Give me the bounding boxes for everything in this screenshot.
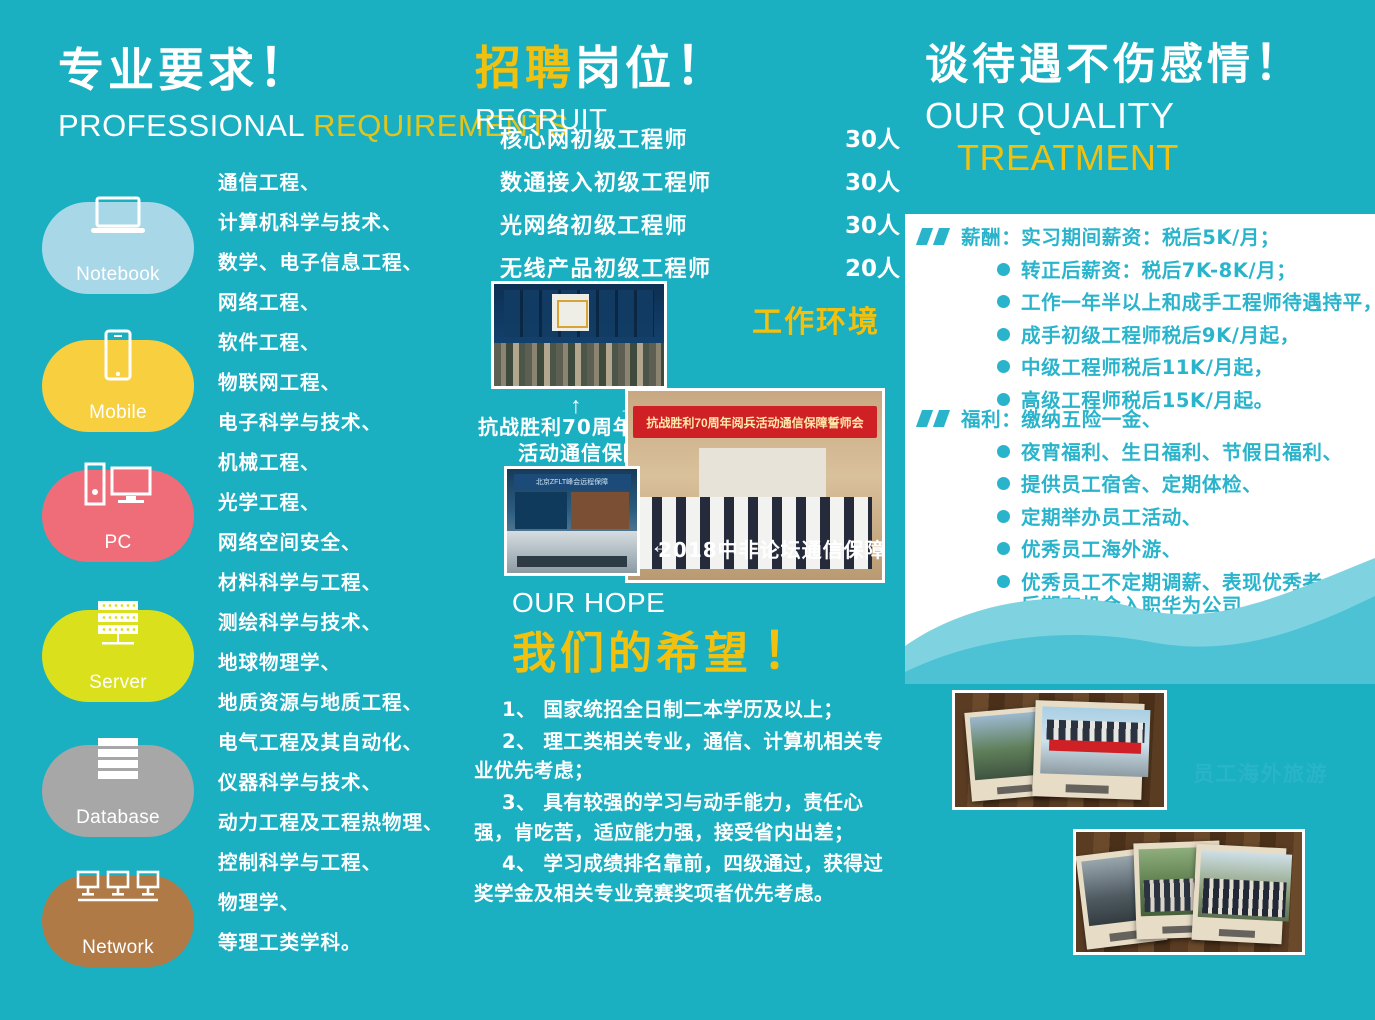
majors-list: 通信工程、 计算机科学与技术、 数学、电子信息工程、 网络工程、 软件工程、 物…: [218, 173, 458, 973]
hope-item: 1、 国家统招全日制二本学历及以上；: [474, 695, 894, 725]
column-treatment: 谈待遇不伤感情！ OUR QUALITY TREATMENT 薪酬：实习期间薪资…: [905, 0, 1375, 1020]
group-photo-people: [1202, 878, 1287, 917]
photo-control-room: 北京ZFLT峰会远程保障: [504, 466, 640, 576]
photo-noc-group: [491, 281, 667, 389]
salary-item: 工作一年半以上和成手工程师待遇持平，: [997, 293, 1375, 313]
quote-mark-icon: [919, 410, 953, 427]
left-title-exclamation: ！: [258, 39, 314, 99]
bullet-icon: [997, 510, 1010, 523]
caption-forum: 2018中非论坛通信保障: [658, 538, 886, 563]
major-item: 物理学、: [218, 893, 458, 913]
cloud-pc[interactable]: PC: [42, 470, 194, 562]
treatment-title-cn: 谈待遇不伤感情！: [925, 38, 1306, 88]
ceremony-red-banner: 抗战胜利70周年阅兵活动通信保障誓师会: [633, 406, 877, 438]
poster-canvas: 专业要求！ PROFESSIONAL REQUIREMENTS Notebook…: [0, 0, 1375, 1020]
job-row: 数通接入初级工程师 30人: [500, 163, 900, 197]
wave-decoration: [905, 534, 1375, 684]
major-item: 材料科学与工程、: [218, 573, 458, 593]
major-item: 机械工程、: [218, 453, 458, 473]
major-item: 网络工程、: [218, 293, 458, 313]
benefit-item: 提供员工宿舍、定期体检、: [997, 475, 1343, 495]
job-name: 无线产品初级工程师: [500, 251, 712, 283]
major-item: 数学、电子信息工程、: [218, 253, 458, 273]
treatment-title-en-accent: TREATMENT: [957, 138, 1306, 178]
map-outline: [557, 300, 588, 327]
major-item: 通信工程、: [218, 173, 458, 193]
screen-right: [571, 492, 630, 529]
screen-header-bar: 北京ZFLT峰会远程保障: [514, 474, 631, 490]
major-item: 等理工类学科。: [218, 933, 458, 953]
recruit-title-cn: 招聘岗位！: [475, 40, 731, 95]
polaroid-card: [1191, 844, 1286, 945]
major-item: 软件工程、: [218, 333, 458, 353]
salary-item: 成手初级工程师税后9K/月起，: [997, 326, 1375, 346]
treatment-white-panel: 薪酬：实习期间薪资：税后5K/月； 转正后薪资：税后7K-8K/月； 工作一年半…: [905, 214, 1375, 684]
server-icon: [42, 594, 194, 656]
polaroid-photo: [1040, 706, 1151, 777]
photo-overseas-travel-2-inner: [1076, 832, 1302, 952]
major-item: 物联网工程、: [218, 373, 458, 393]
job-count: 30人: [845, 120, 900, 154]
hope-heading-block: OUR HOPE 我们的希望！: [512, 588, 816, 677]
photo-overseas-travel-2: [1073, 829, 1305, 955]
photo-overseas-travel-1-inner: [955, 693, 1164, 807]
column-professional-requirements: 专业要求！ PROFESSIONAL REQUIREMENTS Notebook…: [0, 0, 460, 1020]
hope-title-exclamation: ！: [762, 622, 816, 680]
left-title-cn-text: 专业要求: [58, 43, 258, 97]
benefit-heading: 福利：缴纳五险一金、: [961, 408, 1162, 431]
quote-mark-icon: [919, 228, 953, 245]
cloud-mobile-label: Mobile: [42, 402, 194, 424]
work-environment-label: 工作环境: [752, 297, 880, 341]
bullet-icon: [997, 263, 1010, 276]
hope-item: 2、 理工类相关专业，通信、计算机相关专业优先考虑；: [474, 727, 894, 786]
job-count: 20人: [845, 249, 900, 283]
cloud-database-label: Database: [42, 807, 194, 829]
job-row: 无线产品初级工程师 20人: [500, 249, 900, 283]
database-icon: [42, 729, 194, 791]
major-item: 仪器科学与技术、: [218, 773, 458, 793]
salary-block: 薪酬：实习期间薪资：税后5K/月； 转正后薪资：税后7K-8K/月； 工作一年半…: [919, 228, 1375, 410]
mobile-icon: [42, 324, 194, 386]
salary-item: 转正后薪资：税后7K-8K/月；: [997, 261, 1375, 281]
major-item: 光学工程、: [218, 493, 458, 513]
job-name: 光网络初级工程师: [500, 208, 688, 240]
column-recruit: 招聘岗位！ RECRUIT 核心网初级工程师 30人 数通接入初级工程师 30人…: [460, 0, 905, 1020]
job-count: 30人: [845, 163, 900, 197]
major-item: 网络空间安全、: [218, 533, 458, 553]
major-item: 电气工程及其自动化、: [218, 733, 458, 753]
benefit-item: 定期举办员工活动、: [997, 508, 1343, 528]
hope-item: 4、 学习成绩排名靠前，四级通过，获得过奖学金及相关专业竞赛奖项者优先考虑。: [474, 849, 894, 908]
benefit-heading-row: 福利：缴纳五险一金、: [919, 410, 1343, 430]
recruit-title-exclamation: ！: [675, 37, 731, 97]
cloud-database[interactable]: Database: [42, 745, 194, 837]
polaroid-caption-tag: [1066, 785, 1110, 794]
screen-left: [515, 492, 567, 529]
group-photo-people: [1047, 720, 1145, 743]
bullet-icon: [997, 393, 1010, 406]
cloud-notebook-label: Notebook: [42, 264, 194, 286]
projection-screen: [699, 448, 826, 505]
treatment-heading-block: 谈待遇不伤感情！ OUR QUALITY TREATMENT: [925, 38, 1306, 178]
desk-chairs: [517, 556, 626, 566]
treatment-title-cn-text: 谈待遇不伤感情: [925, 40, 1254, 90]
bullet-icon: [997, 477, 1010, 490]
bullet-icon: [997, 328, 1010, 341]
major-item: 测绘科学与技术、: [218, 613, 458, 633]
major-item: 计算机科学与技术、: [218, 213, 458, 233]
job-list: 核心网初级工程师 30人 数通接入初级工程师 30人 光网络初级工程师 30人 …: [500, 120, 900, 292]
polaroid-caption-tag: [1218, 929, 1255, 939]
cloud-server-label: Server: [42, 672, 194, 694]
crowd-row: [494, 343, 664, 386]
polaroid-caption-tag: [997, 785, 1033, 795]
job-count: 30人: [845, 206, 900, 240]
pc-icon: [42, 454, 194, 516]
hope-items-list: 1、 国家统招全日制二本学历及以上； 2、 理工类相关专业，通信、计算机相关专业…: [474, 695, 894, 908]
overseas-travel-caption: 员工海外旅游: [1193, 758, 1328, 788]
recruit-title-cn-accent: 招聘: [475, 41, 575, 95]
bullet-icon: [997, 445, 1010, 458]
major-item: 地球物理学、: [218, 653, 458, 673]
hope-title-cn-text: 我们的希望: [512, 628, 752, 679]
photo-overseas-travel-1: [952, 690, 1167, 810]
left-title-en-white: PROFESSIONAL: [58, 108, 313, 143]
major-item: 控制科学与工程、: [218, 853, 458, 873]
photo-noc-group-inner: [494, 284, 664, 386]
cloud-network-label: Network: [42, 937, 194, 959]
polaroid-photo: [1198, 850, 1292, 922]
job-row: 核心网初级工程师 30人: [500, 120, 900, 154]
treatment-title-en-white: OUR QUALITY: [925, 96, 1306, 136]
benefit-item: 夜宵福利、生日福利、节假日福利、: [997, 443, 1343, 463]
cloud-mobile[interactable]: Mobile: [42, 340, 194, 432]
cloud-pc-label: PC: [42, 532, 194, 554]
hope-title-cn: 我们的希望！: [512, 625, 816, 678]
polaroid-card: [1033, 700, 1145, 799]
job-name: 数通接入初级工程师: [500, 165, 712, 197]
cloud-notebook[interactable]: Notebook: [42, 202, 194, 294]
salary-heading: 薪酬：实习期间薪资：税后5K/月；: [961, 226, 1280, 249]
major-item: 电子科学与技术、: [218, 413, 458, 433]
cloud-network[interactable]: Network: [42, 875, 194, 967]
cloud-server[interactable]: Server: [42, 610, 194, 702]
ceremony-banner-text: 抗战胜利70周年阅兵活动通信保障誓师会: [633, 406, 877, 438]
hope-title-en: OUR HOPE: [512, 588, 816, 619]
bullet-icon: [997, 360, 1010, 373]
major-item: 地质资源与地质工程、: [218, 693, 458, 713]
bullet-icon: [997, 295, 1010, 308]
recruit-title-cn-white: 岗位: [575, 41, 675, 95]
major-item: 动力工程及工程热物理、: [218, 813, 458, 833]
salary-item: 中级工程师税后11K/月起，: [997, 358, 1375, 378]
screen-header-text: 北京ZFLT峰会远程保障: [514, 474, 631, 490]
treatment-title-exclamation: ！: [1254, 35, 1306, 91]
salary-heading-row: 薪酬：实习期间薪资：税后5K/月；: [919, 228, 1375, 248]
job-name: 核心网初级工程师: [500, 122, 688, 154]
job-row: 光网络初级工程师 30人: [500, 206, 900, 240]
hope-item: 3、 具有较强的学习与动手能力，责任心强，肯吃苦，适应能力强，接受省内出差；: [474, 788, 894, 847]
network-icon: [42, 859, 194, 921]
notebook-icon: [42, 186, 194, 248]
photo-control-room-inner: 北京ZFLT峰会远程保障: [507, 469, 637, 573]
